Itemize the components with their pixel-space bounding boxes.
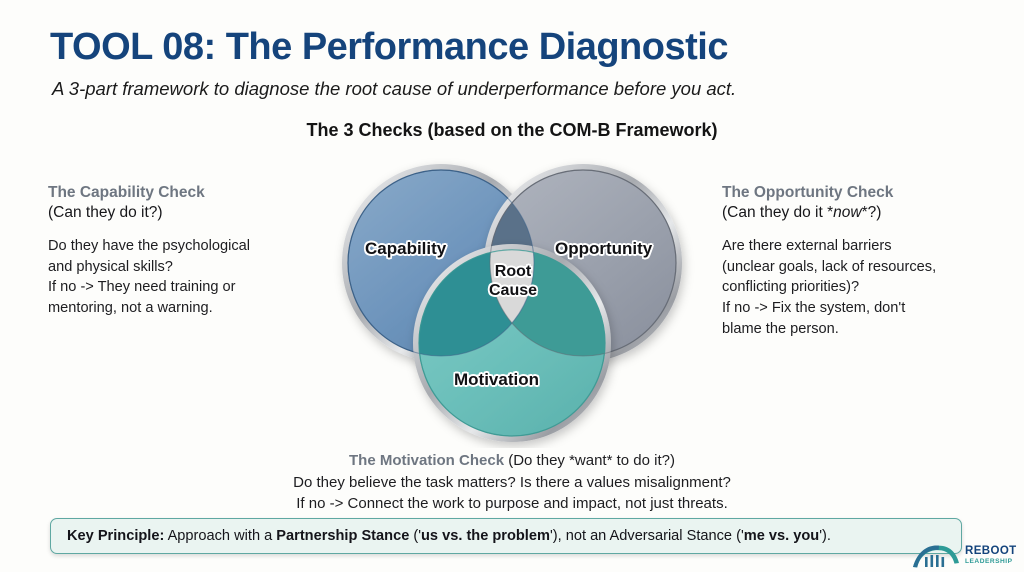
motivation-check-title: The Motivation Check (349, 452, 504, 469)
opportunity-check-question: (Can they do it *now*?) (722, 203, 1022, 223)
key-principle-part-2: (' (409, 528, 421, 544)
opportunity-line-4: If no -> Fix the system, don't (722, 298, 1022, 319)
key-principle-part-3: '), not an Adversarial Stance (' (550, 528, 744, 544)
bridge-arch-icon (912, 543, 960, 569)
key-principle-label: Key Principle: (67, 528, 164, 544)
page-subtitle: A 3-part framework to diagnose the root … (52, 78, 736, 100)
capability-line-3: If no -> They need training or (48, 277, 348, 298)
key-principle-part-4: '). (819, 528, 831, 544)
opportunity-line-2: (unclear goals, lack of resources, (722, 257, 1022, 278)
key-principle-text: Key Principle: Approach with a Partnersh… (51, 528, 831, 544)
opportunity-question-prefix: (Can they do it * (722, 204, 833, 221)
opportunity-question-emphasis: now (833, 204, 861, 221)
brand-name-secondary: LEADERSHIP (965, 559, 1017, 566)
key-principle-part-1: Approach with a (164, 528, 276, 544)
venn-svg (323, 158, 701, 448)
opportunity-line-5: blame the person. (722, 319, 1022, 340)
capability-line-1: Do they have the psychological (48, 236, 348, 257)
opportunity-question-suffix: *?) (862, 204, 882, 221)
slide-canvas: TOOL 08: The Performance Diagnostic A 3-… (0, 0, 1024, 572)
key-principle-bar: Key Principle: Approach with a Partnersh… (50, 518, 962, 554)
capability-line-2: and physical skills? (48, 257, 348, 278)
opportunity-check-body: Are there external barriers (unclear goa… (722, 236, 1022, 340)
key-principle-bold-3: me vs. you (744, 528, 819, 544)
motivation-line-1: Do they believe the task matters? Is the… (0, 472, 1024, 494)
venn-diagram: Capability Opportunity Motivation Root C… (323, 158, 701, 448)
motivation-check-question: (Do they *want* to do it?) (508, 452, 675, 469)
motivation-check-block: The Motivation Check (Do they *want* to … (0, 450, 1024, 515)
opportunity-check-title: The Opportunity Check (722, 183, 1022, 203)
capability-check-block: The Capability Check (Can they do it?) D… (48, 183, 348, 319)
opportunity-line-3: conflicting priorities)? (722, 277, 1022, 298)
key-principle-bold-2: us vs. the problem (421, 528, 550, 544)
capability-line-4: mentoring, not a warning. (48, 298, 348, 319)
opportunity-line-1: Are there external barriers (722, 236, 1022, 257)
opportunity-check-block: The Opportunity Check (Can they do it *n… (722, 183, 1022, 340)
brand-name-primary: REBOOT (965, 546, 1017, 558)
brand-logo: REBOOT LEADERSHIP (912, 541, 1020, 571)
key-principle-bold-1: Partnership Stance (276, 528, 409, 544)
motivation-line-2: If no -> Connect the work to purpose and… (0, 493, 1024, 515)
motivation-check-headline: The Motivation Check (Do they *want* to … (0, 450, 1024, 472)
section-heading: The 3 Checks (based on the COM-B Framewo… (0, 120, 1024, 141)
page-title: TOOL 08: The Performance Diagnostic (50, 26, 728, 69)
capability-check-body: Do they have the psychological and physi… (48, 236, 348, 319)
brand-logo-wordmark: REBOOT LEADERSHIP (965, 546, 1017, 565)
capability-check-question: (Can they do it?) (48, 203, 348, 223)
capability-check-title: The Capability Check (48, 183, 348, 203)
